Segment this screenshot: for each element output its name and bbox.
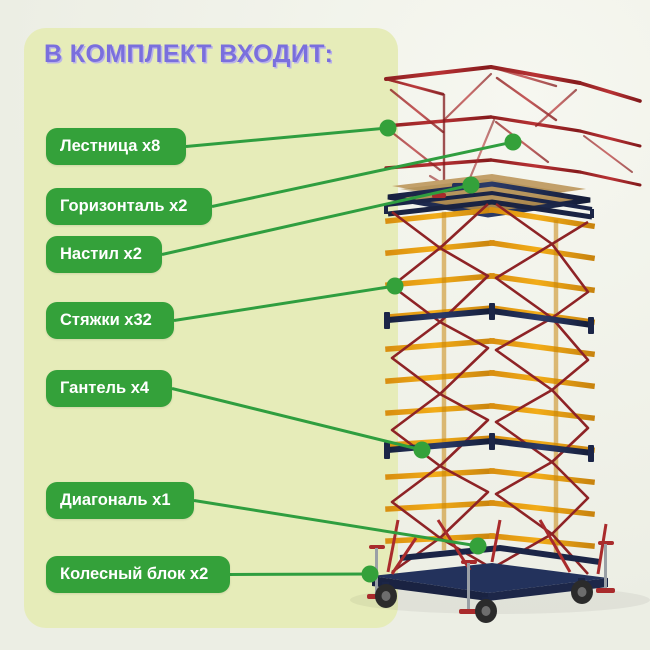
part-label-decking[interactable]: Настил x2 bbox=[46, 236, 162, 273]
part-label-dumbbell[interactable]: Гантель x4 bbox=[46, 370, 172, 407]
part-label-horizontal[interactable]: Горизонталь x2 bbox=[46, 188, 212, 225]
leader-dot-dumbbell bbox=[414, 442, 431, 459]
part-label-text: Диагональ x1 bbox=[60, 491, 171, 510]
part-label-text: Настил x2 bbox=[60, 245, 142, 264]
part-label-ladder[interactable]: Лестница x8 bbox=[46, 128, 186, 165]
leader-line-wheelblock bbox=[230, 574, 370, 575]
leader-line-ladder bbox=[186, 128, 388, 147]
leader-dot-decking bbox=[463, 177, 480, 194]
part-label-ties[interactable]: Стяжки x32 bbox=[46, 302, 174, 339]
leader-dot-horizontal bbox=[505, 134, 522, 151]
leader-dot-ladder bbox=[380, 120, 397, 137]
leader-line-horizontal bbox=[212, 142, 513, 207]
leader-dot-diagonal bbox=[470, 538, 487, 555]
leader-line-diagonal bbox=[194, 501, 478, 547]
part-label-wheelblock[interactable]: Колесный блок x2 bbox=[46, 556, 230, 593]
leader-dot-wheelblock bbox=[362, 566, 379, 583]
part-label-diagonal[interactable]: Диагональ x1 bbox=[46, 482, 194, 519]
leader-line-ties bbox=[174, 286, 395, 321]
leader-dot-ties bbox=[387, 278, 404, 295]
part-label-text: Колесный блок x2 bbox=[60, 565, 208, 584]
part-label-text: Лестница x8 bbox=[60, 137, 160, 156]
part-label-text: Горизонталь x2 bbox=[60, 197, 188, 216]
illustration-stage: В КОМПЛЕКТ ВХОДИТ: bbox=[0, 0, 650, 650]
part-label-text: Гантель x4 bbox=[60, 379, 149, 398]
part-label-text: Стяжки x32 bbox=[60, 311, 152, 330]
leader-line-dumbbell bbox=[172, 389, 422, 451]
